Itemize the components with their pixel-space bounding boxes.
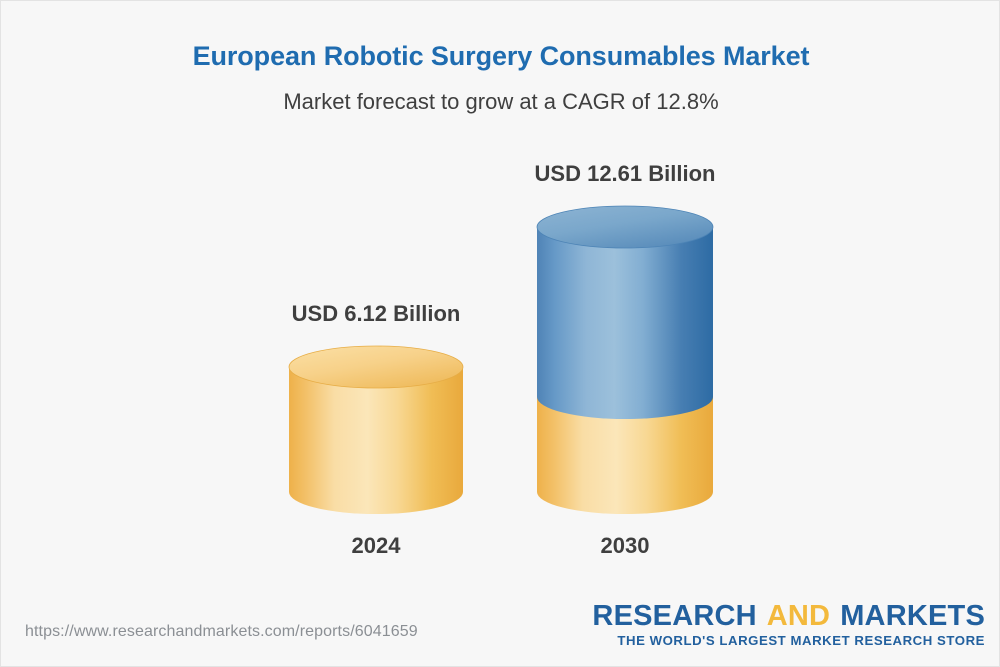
brand-word-research: RESEARCH bbox=[592, 600, 756, 632]
category-label-2030: 2030 bbox=[601, 533, 650, 559]
cylinder-2024 bbox=[289, 347, 463, 517]
chart-plot-area: USD 6.12 Billion bbox=[1, 1, 1000, 601]
cylinder-body-2024 bbox=[289, 367, 463, 514]
infographic-canvas: European Robotic Surgery Consumables Mar… bbox=[0, 0, 1000, 667]
cylinder-body-upper-2030 bbox=[537, 227, 713, 419]
cylinder-top-2024 bbox=[289, 346, 463, 388]
brand-tagline: THE WORLD'S LARGEST MARKET RESEARCH STOR… bbox=[592, 633, 985, 648]
source-url[interactable]: https://www.researchandmarkets.com/repor… bbox=[25, 623, 418, 641]
brand-name: RESEARCHANDMARKETS bbox=[592, 601, 985, 631]
bar-value-label-2024: USD 6.12 Billion bbox=[292, 301, 461, 327]
cylinder-2030 bbox=[537, 207, 713, 517]
brand-word-and: AND bbox=[767, 600, 830, 632]
cylinder-top-2030 bbox=[537, 206, 713, 248]
bar-value-label-2030: USD 12.61 Billion bbox=[535, 161, 716, 187]
category-label-2024: 2024 bbox=[352, 533, 401, 559]
brand-word-markets: MARKETS bbox=[840, 600, 985, 632]
brand-logo: RESEARCHANDMARKETS THE WORLD'S LARGEST M… bbox=[592, 601, 985, 648]
